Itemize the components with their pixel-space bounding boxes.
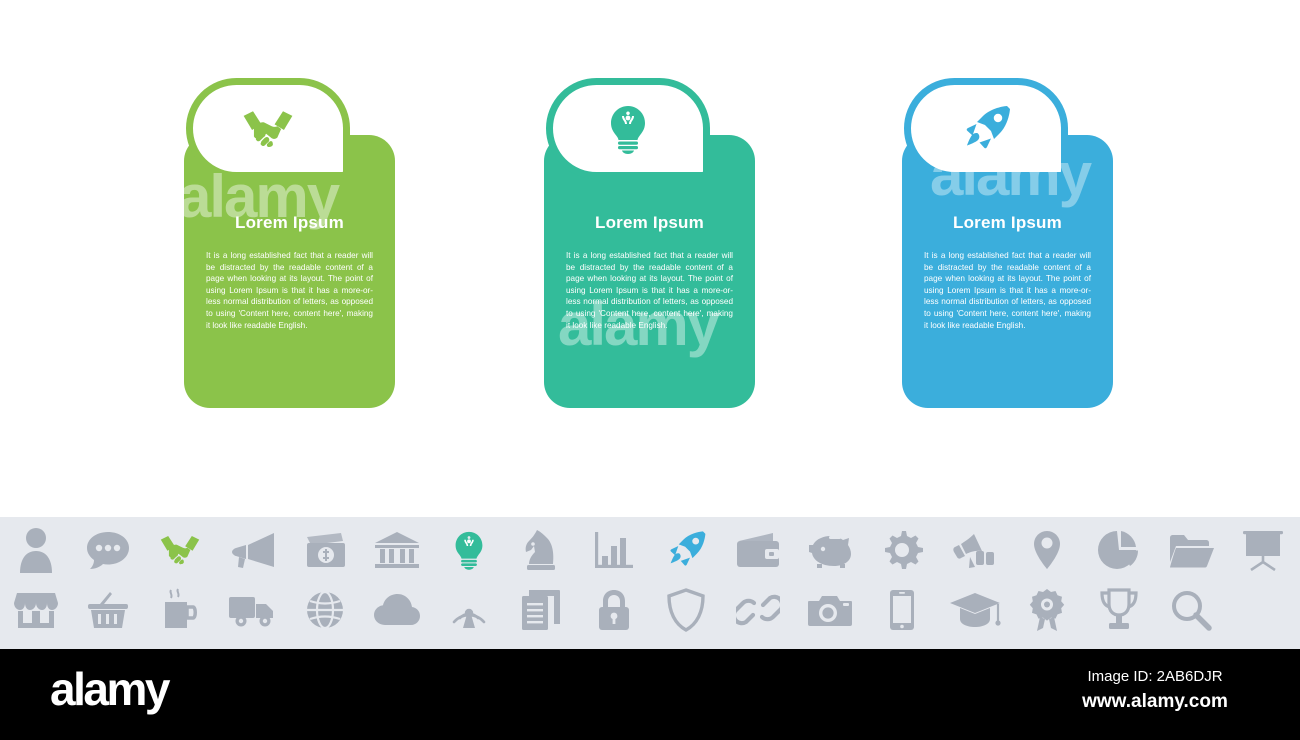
award-ribbon-icon <box>1011 588 1083 632</box>
card-icon-bubble-2[interactable] <box>546 78 710 179</box>
piggy-bank-icon <box>794 532 866 568</box>
lock-icon <box>578 588 650 632</box>
megaphone-icon <box>217 531 289 569</box>
alamy-logo: alamy <box>50 666 168 712</box>
shield-icon <box>650 588 722 632</box>
infographic-card-1[interactable]: Lorem Ipsum It is a long established fac… <box>184 78 406 408</box>
infographic-card-2[interactable]: Lorem Ipsum It is a long established fac… <box>544 78 766 408</box>
promotion-megaphone-icon <box>938 530 1010 570</box>
magnifier-icon <box>1155 589 1227 631</box>
mobile-phone-icon <box>866 588 938 632</box>
graduation-cap-icon <box>938 591 1010 629</box>
person-icon <box>0 527 72 573</box>
card-title-2: Lorem Ipsum <box>566 213 733 233</box>
bar-chart-icon <box>578 530 650 570</box>
coffee-cup-icon <box>144 588 216 632</box>
handshake-icon <box>144 533 216 567</box>
footer-meta: Image ID: 2AB6DJR www.alamy.com <box>1030 667 1280 715</box>
presentation-board-icon <box>1227 529 1299 571</box>
gear-icon <box>866 529 938 571</box>
card-description-1: It is a long established fact that a rea… <box>206 250 373 331</box>
bank-icon <box>361 530 433 570</box>
camera-icon <box>794 592 866 628</box>
wallet-icon <box>722 532 794 568</box>
link-icon <box>722 590 794 630</box>
icon-strip-row-1 <box>0 517 1300 583</box>
chat-bubble-icon <box>72 530 144 570</box>
handshake-icon <box>238 107 298 151</box>
cloud-icon <box>361 593 433 627</box>
icon-strip: alamy alamy a alamy a <box>0 517 1300 649</box>
icon-strip-row-2 <box>0 577 1300 643</box>
money-bills-icon <box>289 531 361 569</box>
image-id-label: Image ID: 2AB6DJR <box>1030 667 1280 687</box>
rocket-icon <box>650 529 722 571</box>
folder-icon <box>1155 532 1227 568</box>
storefront-icon <box>0 591 72 629</box>
documents-icon <box>505 588 577 632</box>
rocket-icon <box>960 103 1012 155</box>
infographic-card-3[interactable]: Lorem Ipsum It is a long established fac… <box>902 78 1124 408</box>
card-description-2: It is a long established fact that a rea… <box>566 250 733 331</box>
card-title-3: Lorem Ipsum <box>924 213 1091 233</box>
trophy-icon <box>1083 588 1155 632</box>
card-description-3: It is a long established fact that a rea… <box>924 250 1091 331</box>
wifi-signal-icon <box>433 591 505 629</box>
website-url: www.alamy.com <box>1030 689 1280 715</box>
delivery-truck-icon <box>217 592 289 628</box>
infographic-area: Lorem Ipsum It is a long established fac… <box>0 0 1300 517</box>
screenshot-root: Lorem Ipsum It is a long established fac… <box>0 0 1300 740</box>
globe-icon <box>289 590 361 630</box>
lightbulb-icon <box>433 530 505 570</box>
lightbulb-icon <box>609 104 647 154</box>
card-icon-bubble-3[interactable] <box>904 78 1068 179</box>
card-title-1: Lorem Ipsum <box>206 213 373 233</box>
alamy-footer-bar: alamy Image ID: 2AB6DJR www.alamy.com <box>0 649 1300 740</box>
shopping-basket-icon <box>72 590 144 630</box>
pie-chart-icon <box>1083 529 1155 571</box>
card-icon-bubble-1[interactable] <box>186 78 350 179</box>
location-pin-icon <box>1011 529 1083 571</box>
chess-knight-icon <box>505 528 577 572</box>
